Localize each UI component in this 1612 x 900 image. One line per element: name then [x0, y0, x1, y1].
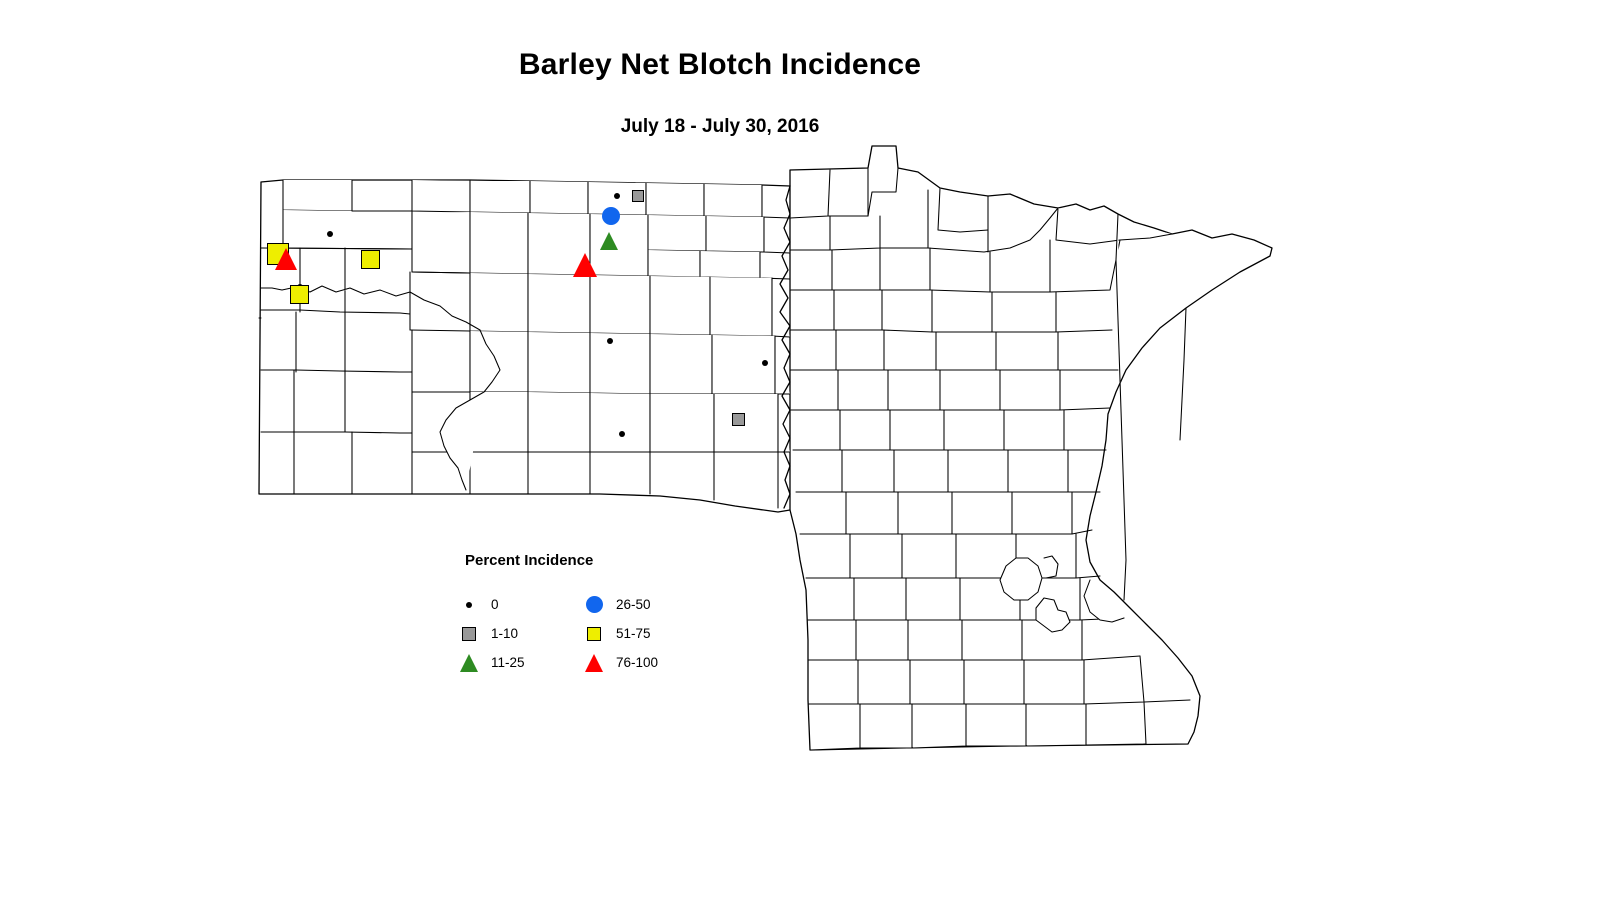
legend-label: 76-100 [616, 655, 658, 670]
legend-label: 1-10 [491, 626, 518, 641]
map-marker-square-icon [290, 285, 309, 304]
legend-yellow-square-icon [587, 627, 601, 641]
legend-label: 51-75 [616, 626, 651, 641]
map-marker-square-icon [361, 250, 380, 269]
legend-swatch [580, 621, 608, 647]
legend-swatch [580, 650, 608, 676]
map-marker-dot-icon [762, 360, 768, 366]
map-marker-dot-icon [327, 231, 333, 237]
legend-swatch [455, 650, 483, 676]
map-marker-dot-icon [607, 338, 613, 344]
legend-item-76-100[interactable]: 76-100 [580, 648, 658, 677]
map-marker-dot-icon [619, 431, 625, 437]
legend-column-right: 26-5051-7576-100 [580, 590, 658, 677]
map-marker-square-icon [632, 190, 644, 202]
map-canvas [0, 0, 1612, 900]
map-svg [0, 0, 1612, 900]
legend-swatch [580, 592, 608, 618]
map-marker-dot-icon [614, 193, 620, 199]
legend-dot-icon [466, 602, 472, 608]
legend-swatch [455, 621, 483, 647]
legend-column-left: 01-1011-25 [455, 590, 525, 677]
legend-red-triangle-icon [585, 654, 603, 672]
legend-item-51-75[interactable]: 51-75 [580, 619, 658, 648]
map-marker-circle-icon [602, 207, 620, 225]
legend-label: 0 [491, 597, 499, 612]
north-dakota-counties [259, 180, 790, 512]
map-page: Barley Net Blotch Incidence July 18 - Ju… [0, 0, 1612, 900]
legend-item-11-25[interactable]: 11-25 [455, 648, 525, 677]
minnesota-counties [790, 146, 1272, 750]
legend-swatch [455, 592, 483, 618]
legend-item-26-50[interactable]: 26-50 [580, 590, 658, 619]
legend-title: Percent Incidence [465, 552, 593, 569]
legend-label: 11-25 [491, 655, 525, 670]
legend-green-triangle-icon [460, 654, 478, 672]
legend-blue-circle-icon [586, 596, 603, 613]
legend-gray-square-icon [462, 627, 476, 641]
map-marker-triangle-icon [573, 253, 597, 277]
legend-item-0[interactable]: 0 [455, 590, 525, 619]
map-legend: Percent Incidence 01-1011-25 26-5051-757… [455, 552, 755, 682]
map-marker-triangle-icon [275, 248, 297, 270]
map-marker-triangle-icon [600, 232, 618, 250]
legend-item-1-10[interactable]: 1-10 [455, 619, 525, 648]
legend-label: 26-50 [616, 597, 651, 612]
map-marker-square-icon [732, 413, 745, 426]
